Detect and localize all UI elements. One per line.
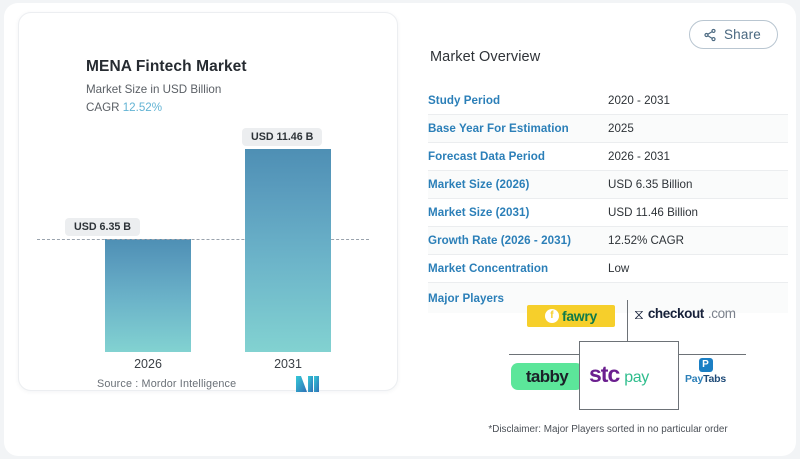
- x-tick-2031: 2031: [245, 357, 331, 371]
- report-card: Share MENA Fintech Market Market Size in…: [4, 3, 796, 456]
- table-row: Market Size (2031) USD 11.46 Billion: [428, 199, 788, 227]
- players-disclaimer: *Disclaimer: Major Players sorted in no …: [428, 424, 788, 435]
- x-tick-2026: 2026: [105, 357, 191, 371]
- paytabs-pay: Pay: [685, 373, 703, 385]
- chart-source: Source : Mordor Intelligence: [97, 378, 236, 390]
- bar-chart-plot: USD 6.35 B 2026 USD 11.46 B 2031: [33, 118, 383, 368]
- paytabs-tabs: Tabs: [703, 373, 726, 385]
- row-value: Low: [608, 262, 629, 275]
- table-row: Market Concentration Low: [428, 255, 788, 283]
- share-button[interactable]: Share: [689, 20, 778, 49]
- checkout-hourglass-icon: ⧖: [634, 307, 644, 321]
- fawry-label: fawry: [562, 308, 597, 324]
- row-key: Market Concentration: [428, 262, 608, 275]
- bar-2026[interactable]: [105, 239, 191, 352]
- stc-label: stc: [589, 361, 619, 388]
- logo-stc-pay[interactable]: stc pay: [589, 361, 649, 388]
- checkout-suffix: .com: [708, 306, 736, 321]
- chart-card: MENA Fintech Market Market Size in USD B…: [18, 12, 398, 391]
- logo-paytabs[interactable]: P PayTabs: [685, 358, 726, 385]
- chart-title: MENA Fintech Market: [86, 58, 247, 76]
- market-overview-heading: Market Overview: [430, 49, 540, 65]
- row-key: Growth Rate (2026 - 2031): [428, 234, 608, 247]
- row-value: 12.52% CAGR: [608, 234, 684, 247]
- row-key: Study Period: [428, 94, 608, 107]
- checkout-label: checkout: [648, 306, 704, 321]
- table-row: Growth Rate (2026 - 2031) 12.52% CAGR: [428, 227, 788, 255]
- table-row: Base Year For Estimation 2025: [428, 115, 788, 143]
- row-value: USD 11.46 Billion: [608, 206, 698, 219]
- major-players-logo-grid: f fawry ⧖ checkout .com tabby stc pay P …: [509, 300, 746, 408]
- mordor-intelligence-logo: [296, 375, 320, 398]
- logo-fawry[interactable]: f fawry: [527, 305, 615, 327]
- row-value: 2026 - 2031: [608, 150, 670, 163]
- fawry-mark-icon: f: [545, 309, 559, 323]
- row-value: 2020 - 2031: [608, 94, 670, 107]
- share-label: Share: [724, 27, 761, 42]
- row-key: Market Size (2031): [428, 206, 608, 219]
- bar-2031[interactable]: [245, 149, 331, 352]
- logo-checkout[interactable]: ⧖ checkout .com: [634, 306, 736, 321]
- paytabs-p-icon: P: [699, 358, 713, 372]
- row-key: Market Size (2026): [428, 178, 608, 191]
- row-key: Forecast Data Period: [428, 150, 608, 163]
- share-nodes-icon: [703, 28, 717, 42]
- paytabs-label: PayTabs: [685, 373, 726, 385]
- logo-tabby[interactable]: tabby: [511, 363, 583, 390]
- row-key: Base Year For Estimation: [428, 122, 608, 135]
- tabby-label: tabby: [526, 367, 568, 387]
- table-row: Forecast Data Period 2026 - 2031: [428, 143, 788, 171]
- bar-value-label-2026: USD 6.35 B: [65, 218, 140, 236]
- cagr-label: CAGR: [86, 101, 120, 114]
- table-row: Study Period 2020 - 2031: [428, 87, 788, 115]
- chart-cagr: CAGR 12.52%: [86, 101, 162, 114]
- row-value: USD 6.35 Billion: [608, 178, 692, 191]
- stc-pay-suffix: pay: [624, 369, 649, 387]
- market-overview-table: Study Period 2020 - 2031 Base Year For E…: [428, 87, 788, 313]
- chart-subtitle: Market Size in USD Billion: [86, 83, 221, 96]
- bar-value-label-2031: USD 11.46 B: [242, 128, 322, 146]
- cagr-value: 12.52%: [123, 101, 162, 114]
- row-value: 2025: [608, 122, 634, 135]
- table-row: Market Size (2026) USD 6.35 Billion: [428, 171, 788, 199]
